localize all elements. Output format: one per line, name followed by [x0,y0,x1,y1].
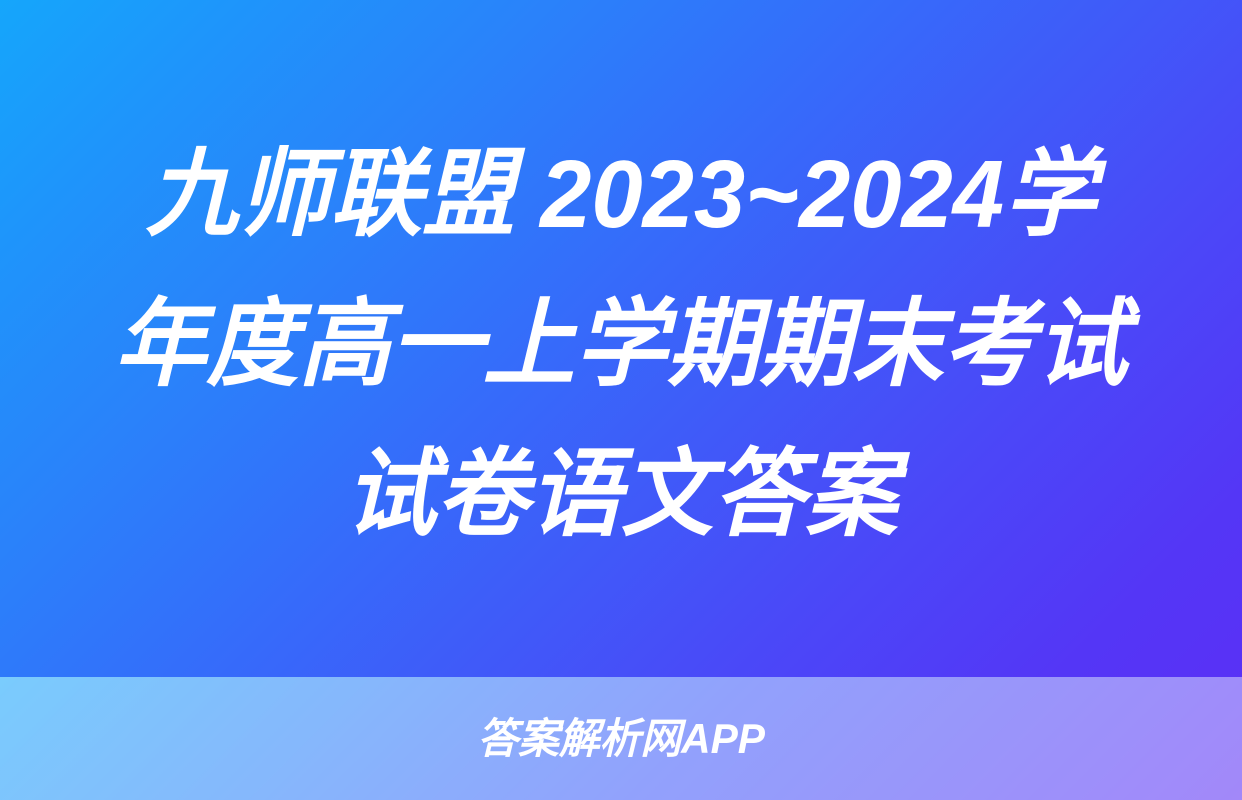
hero-section: 九师联盟 2023~2024学年度高一上学期期末考试试卷语文答案 [0,0,1242,677]
footer-brand-label: 答案解析网APP [477,717,764,761]
footer-brand-band: 答案解析网APP [0,677,1242,800]
page-title: 九师联盟 2023~2024学年度高一上学期期末考试试卷语文答案 [107,108,1134,570]
poster-canvas: 九师联盟 2023~2024学年度高一上学期期末考试试卷语文答案 答案解析网AP… [0,0,1242,800]
